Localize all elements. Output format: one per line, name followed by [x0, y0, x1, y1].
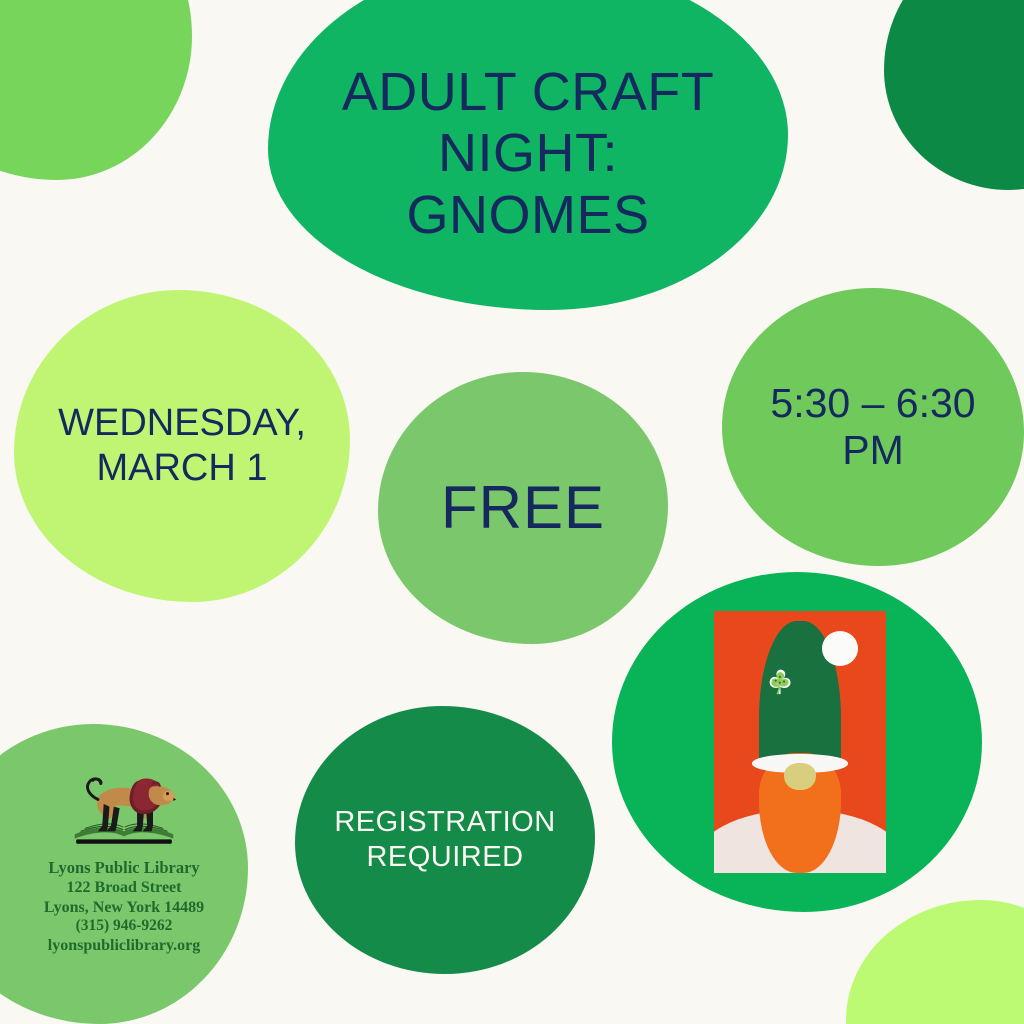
shamrock-icon: [758, 663, 800, 705]
gnome-nose: [784, 763, 816, 790]
library-name: Lyons Public Library: [44, 858, 204, 878]
gnome-pompom: [822, 631, 858, 666]
poster-canvas: ADULT CRAFT NIGHT: GNOMES WEDNESDAY, MAR…: [0, 0, 1024, 1024]
page-title: ADULT CRAFT NIGHT: GNOMES: [342, 62, 715, 247]
library-logo: Lyons Public Library 122 Broad Street Ly…: [18, 758, 230, 973]
gnome-craft-photo: [714, 611, 886, 873]
event-price-blob: FREE: [378, 372, 668, 644]
library-phone: (315) 946-9262: [44, 917, 204, 936]
event-price: FREE: [441, 478, 605, 538]
library-street: 122 Broad Street: [44, 878, 204, 898]
decorative-blob-top-right: [884, 0, 1024, 190]
lion-on-book-icon: [66, 758, 182, 854]
library-website: lyonspubliclibrary.org: [44, 936, 204, 956]
library-city-state-zip: Lyons, New York 14489: [44, 898, 204, 918]
decorative-blob-top-left: [0, 0, 192, 180]
event-time-blob: 5:30 – 6:30 PM: [722, 288, 1024, 566]
event-date: WEDNESDAY, MARCH 1: [58, 401, 306, 491]
registration-notice: REGISTRATION REQUIRED: [334, 805, 555, 875]
registration-notice-blob: REGISTRATION REQUIRED: [295, 706, 595, 974]
event-title-blob: ADULT CRAFT NIGHT: GNOMES: [268, 0, 788, 310]
decorative-blob-bottom-right: [846, 900, 1024, 1024]
library-contact-block: Lyons Public Library 122 Broad Street Ly…: [44, 858, 204, 956]
event-date-blob: WEDNESDAY, MARCH 1: [14, 290, 350, 602]
event-time: 5:30 – 6:30 PM: [770, 380, 975, 474]
